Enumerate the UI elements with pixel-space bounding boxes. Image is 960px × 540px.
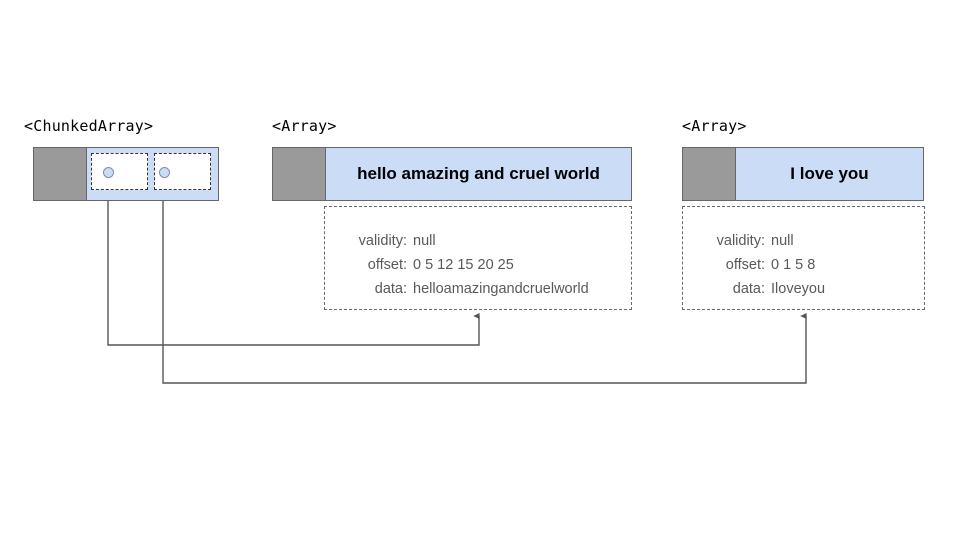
array-one-gray-block	[273, 148, 326, 200]
array-one-detail-box: validity: null offset: 0 5 12 15 20 25 d…	[324, 206, 632, 310]
array-two-gray-block	[683, 148, 736, 200]
array-two-detail-rows: validity: null offset: 0 1 5 8 data: Ilo…	[683, 229, 924, 301]
detail-row: validity: null	[325, 229, 631, 253]
array-one-offset-value: 0 5 12 15 20 25	[413, 253, 631, 277]
array-two-offset-key: offset:	[683, 253, 771, 277]
chunked-array-title: <ChunkedArray>	[24, 117, 153, 135]
array-two-value-label: I love you	[790, 164, 868, 184]
array-one-validity-key: validity:	[325, 229, 413, 253]
chunk-slot-1[interactable]	[154, 153, 211, 190]
array-one-title: <Array>	[272, 117, 337, 135]
array-one-detail-rows: validity: null offset: 0 5 12 15 20 25 d…	[325, 229, 631, 301]
array-two-detail-box: validity: null offset: 0 1 5 8 data: Ilo…	[682, 206, 925, 310]
chunk-pointer-dot-0	[103, 167, 114, 178]
array-two-offset-value: 0 1 5 8	[771, 253, 924, 277]
detail-row: data: helloamazingandcruelworld	[325, 277, 631, 301]
array-two-title: <Array>	[682, 117, 747, 135]
array-one-offset-key: offset:	[325, 253, 413, 277]
array-one-validity-value: null	[413, 229, 631, 253]
detail-row: offset: 0 1 5 8	[683, 253, 924, 277]
array-one-data-value: helloamazingandcruelworld	[413, 277, 631, 301]
diagram-canvas: <ChunkedArray> <Array> hello amazing and…	[0, 0, 960, 540]
chunk-slot-0[interactable]	[91, 153, 148, 190]
array-two-box[interactable]: I love you	[682, 147, 924, 201]
array-one-box[interactable]: hello amazing and cruel world	[272, 147, 632, 201]
array-one-data-key: data:	[325, 277, 413, 301]
detail-row: validity: null	[683, 229, 924, 253]
array-two-data-key: data:	[683, 277, 771, 301]
detail-row: offset: 0 5 12 15 20 25	[325, 253, 631, 277]
detail-row: data: Iloveyou	[683, 277, 924, 301]
array-two-body: I love you	[736, 148, 923, 200]
array-one-value-label: hello amazing and cruel world	[357, 164, 600, 184]
chunked-array-gray-block	[34, 148, 87, 200]
chunk-pointer-dot-1	[159, 167, 170, 178]
array-one-body: hello amazing and cruel world	[326, 148, 631, 200]
array-two-data-value: Iloveyou	[771, 277, 924, 301]
array-two-validity-key: validity:	[683, 229, 771, 253]
array-two-validity-value: null	[771, 229, 924, 253]
